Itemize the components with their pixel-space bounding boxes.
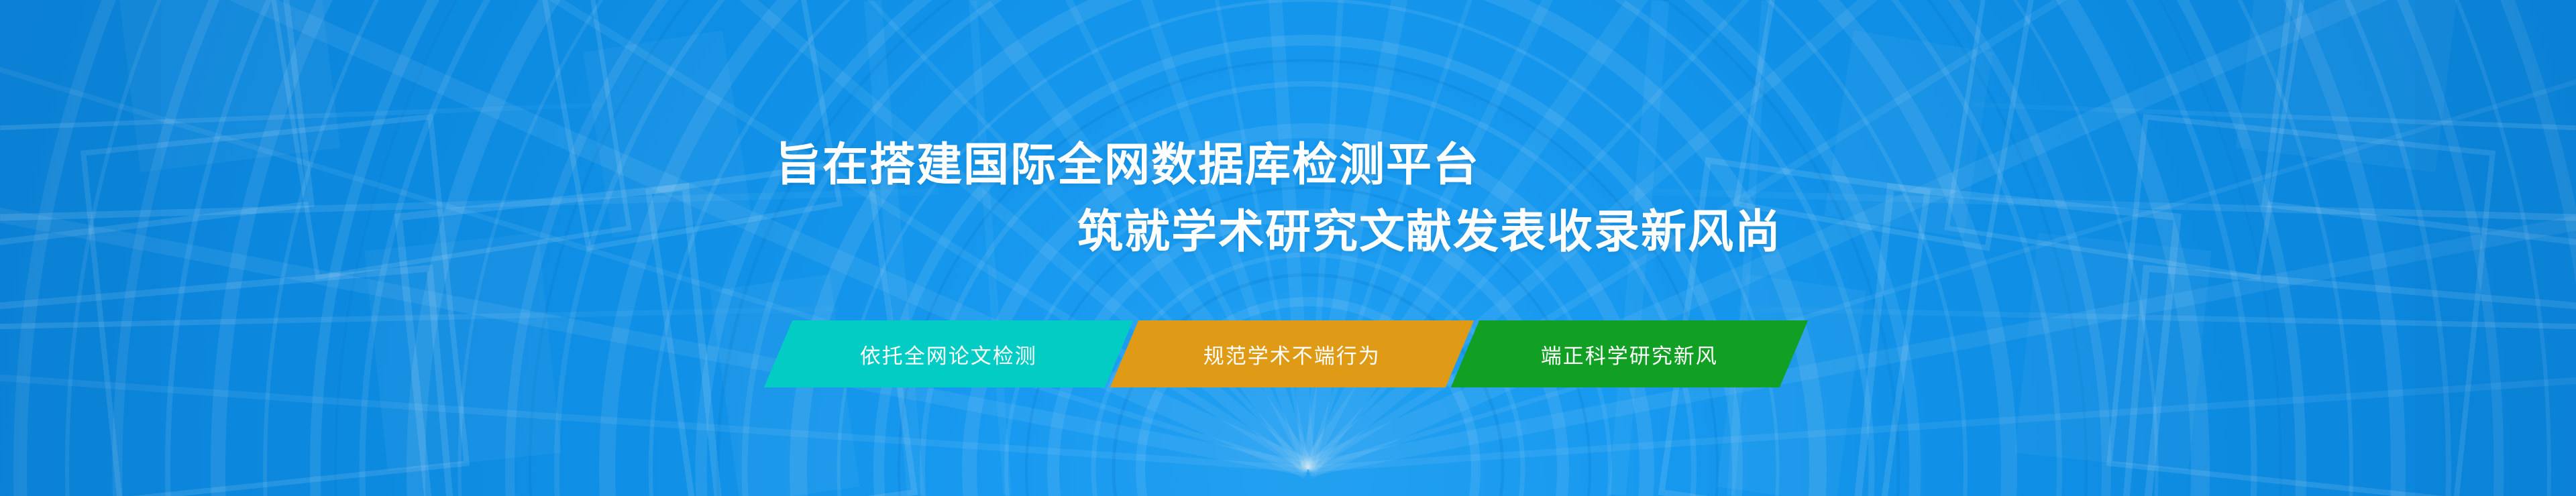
headline-line-1: 旨在搭建国际全网数据库检测平台 bbox=[775, 131, 2576, 198]
badge-research-ethos[interactable]: 端正科学研究新风 bbox=[1451, 320, 1808, 387]
badge-paper-detection[interactable]: 依托全网论文检测 bbox=[764, 320, 1133, 387]
headline-block: 旨在搭建国际全网数据库检测平台 筑就学术研究文献发表收录新风尚 bbox=[0, 131, 2576, 265]
badge-academic-misconduct-label: 规范学术不端行为 bbox=[1203, 339, 1381, 369]
headline-line-2: 筑就学术研究文献发表收录新风尚 bbox=[1077, 198, 2576, 265]
badge-research-ethos-label: 端正科学研究新风 bbox=[1541, 339, 1718, 369]
badge-strip: 依托全网论文检测 规范学术不端行为 端正科学研究新风 bbox=[778, 320, 1794, 387]
badge-paper-detection-label: 依托全网论文检测 bbox=[860, 339, 1037, 369]
badge-academic-misconduct[interactable]: 规范学术不端行为 bbox=[1110, 320, 1474, 387]
banner-content: 旨在搭建国际全网数据库检测平台 筑就学术研究文献发表收录新风尚 依托全网论文检测… bbox=[0, 0, 2576, 496]
hero-banner: 旨在搭建国际全网数据库检测平台 筑就学术研究文献发表收录新风尚 依托全网论文检测… bbox=[0, 0, 2576, 496]
